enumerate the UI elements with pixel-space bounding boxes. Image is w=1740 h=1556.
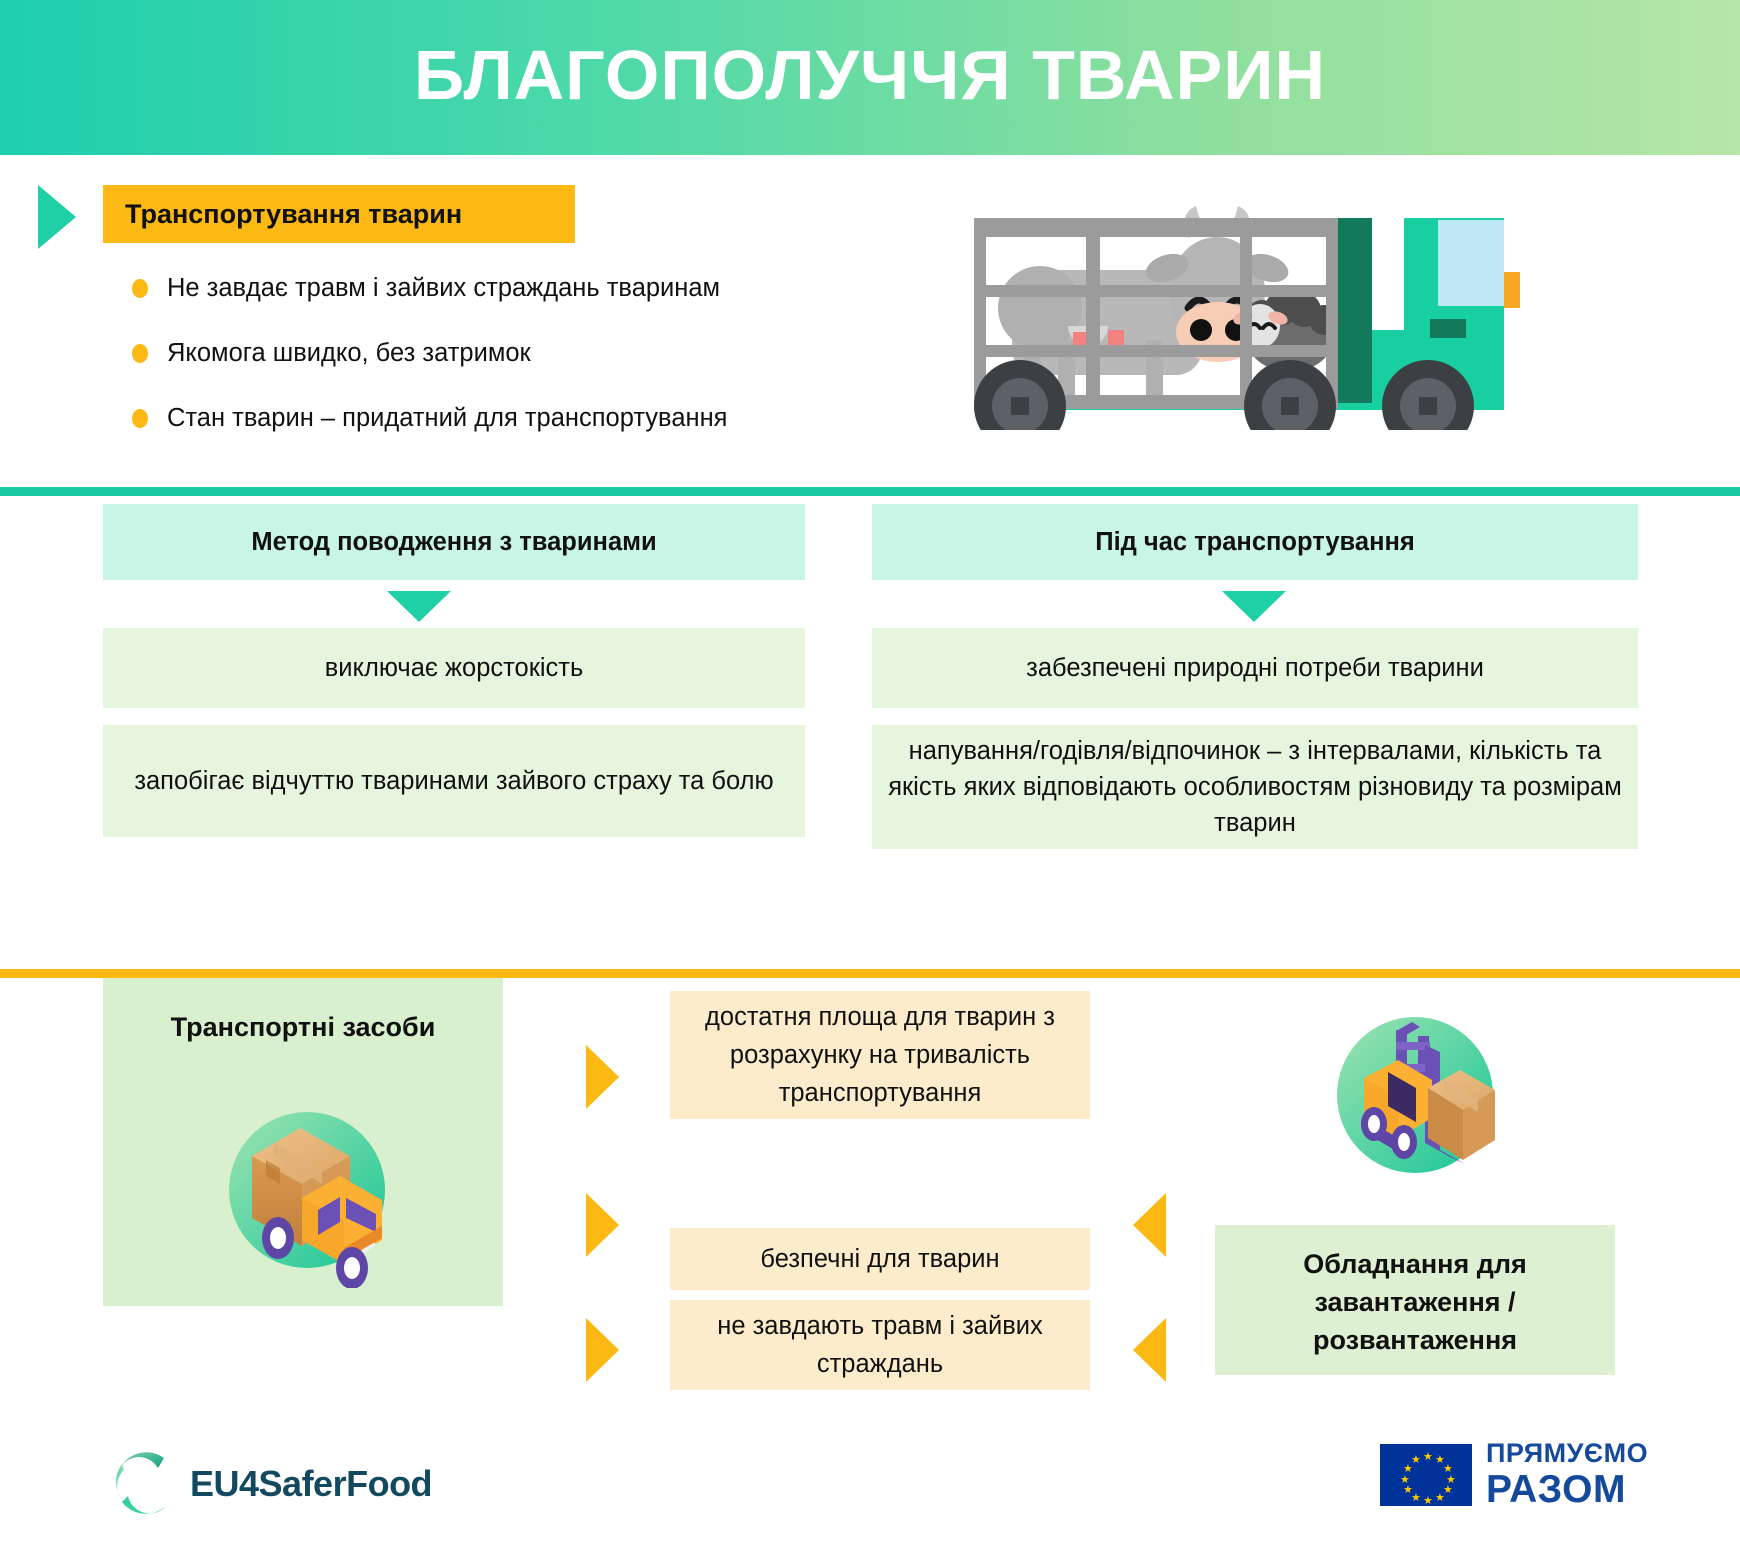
vehicle-requirement-1: достатня площа для тварин з розрахунку н… <box>670 991 1090 1119</box>
logo-line-1: ПРЯМУЄМО <box>1486 1440 1648 1467</box>
section-badge: Транспортування тварин <box>103 185 575 243</box>
loading-equipment-title: Обладнання для завантаження / розвантаже… <box>1215 1245 1615 1359</box>
arrow-left-icon <box>1133 1193 1166 1257</box>
handling-item-1: виключає жорстокість <box>103 628 805 708</box>
eu-flag-icon: ★ ★ ★ ★ ★ ★ ★ ★ ★ ★ ★ ★ <box>1380 1444 1472 1506</box>
arrow-right-icon <box>586 1193 619 1257</box>
logo-line-2: РАЗОМ <box>1486 1470 1648 1509</box>
forklift-icon <box>1320 1000 1510 1195</box>
livestock-truck-illustration <box>960 140 1520 430</box>
list-item-label: Стан тварин – придатний для транспортува… <box>167 404 727 433</box>
list-item: Якомога швидко, без затримок <box>132 325 932 381</box>
column-header-handling: Метод поводження з тваринами <box>103 504 805 580</box>
eu4saferfood-swirl-icon <box>108 1440 184 1527</box>
section-divider-green <box>0 487 1740 496</box>
column-header-transport: Під час транспортування <box>872 504 1638 580</box>
section-badge-label: Транспортування тварин <box>103 199 462 230</box>
triangle-marker-icon <box>38 185 76 249</box>
column-header-label: Метод поводження з тваринами <box>251 528 656 557</box>
handling-item-2: запобігає відчуттю тваринами зайвого стр… <box>103 725 805 837</box>
list-item-label: Не завдає травм і зайвих страждань твари… <box>167 274 720 303</box>
handling-item-1-label: виключає жорстокість <box>325 650 584 686</box>
pryamuyemo-razom-logo: ★ ★ ★ ★ ★ ★ ★ ★ ★ ★ ★ ★ ПРЯМУЄМО РАЗОМ <box>1380 1440 1648 1509</box>
arrow-left-icon <box>1133 1318 1166 1382</box>
vehicle-requirement-2: безпечні для тварин <box>670 1228 1090 1290</box>
bullet-list: Не завдає травм і зайвих страждань твари… <box>132 260 932 446</box>
list-item-label: Якомога швидко, без затримок <box>167 339 531 368</box>
vehicle-requirement-3: не завдають травм і зайвих страждань <box>670 1300 1090 1390</box>
transport-item-1-label: забезпечені природні потреби тварини <box>1026 650 1484 686</box>
bullet-dot-icon <box>132 344 148 363</box>
infographic-page: БЛАГОПОЛУЧЧЯ ТВАРИН Транспортування твар… <box>0 0 1740 1556</box>
list-item: Не завдає травм і зайвих страждань твари… <box>132 260 932 316</box>
down-arrow-icon <box>1222 591 1286 622</box>
section-divider-yellow <box>0 969 1740 978</box>
bullet-dot-icon <box>132 279 148 298</box>
down-arrow-icon <box>387 591 451 622</box>
arrow-right-icon <box>586 1045 619 1109</box>
pryamuyemo-razom-text: ПРЯМУЄМО РАЗОМ <box>1486 1440 1648 1509</box>
eu4saferfood-logo: EU4SaferFood <box>108 1440 432 1527</box>
vehicles-panel-title: Транспортні засоби <box>103 1012 503 1043</box>
transport-item-1: забезпечені природні потреби тварини <box>872 628 1638 708</box>
eu4saferfood-label: EU4SaferFood <box>190 1463 432 1505</box>
vehicle-requirement-1-label: достатня площа для тварин з розрахунку н… <box>684 998 1076 1112</box>
page-title: БЛАГОПОЛУЧЧЯ ТВАРИН <box>0 30 1740 120</box>
vehicle-requirement-3-label: не завдають травм і зайвих страждань <box>684 1307 1076 1383</box>
bullet-dot-icon <box>132 409 148 428</box>
column-header-label: Під час транспортування <box>1095 528 1415 557</box>
handling-item-2-label: запобігає відчуттю тваринами зайвого стр… <box>134 763 773 799</box>
vehicle-requirement-2-label: безпечні для тварин <box>760 1240 999 1278</box>
delivery-truck-icon <box>222 1098 392 1293</box>
arrow-right-icon <box>586 1318 619 1382</box>
list-item: Стан тварин – придатний для транспортува… <box>132 390 932 446</box>
transport-item-2-label: напування/годівля/відпочинок – з інтерва… <box>888 733 1622 841</box>
transport-item-2: напування/годівля/відпочинок – з інтерва… <box>872 725 1638 849</box>
